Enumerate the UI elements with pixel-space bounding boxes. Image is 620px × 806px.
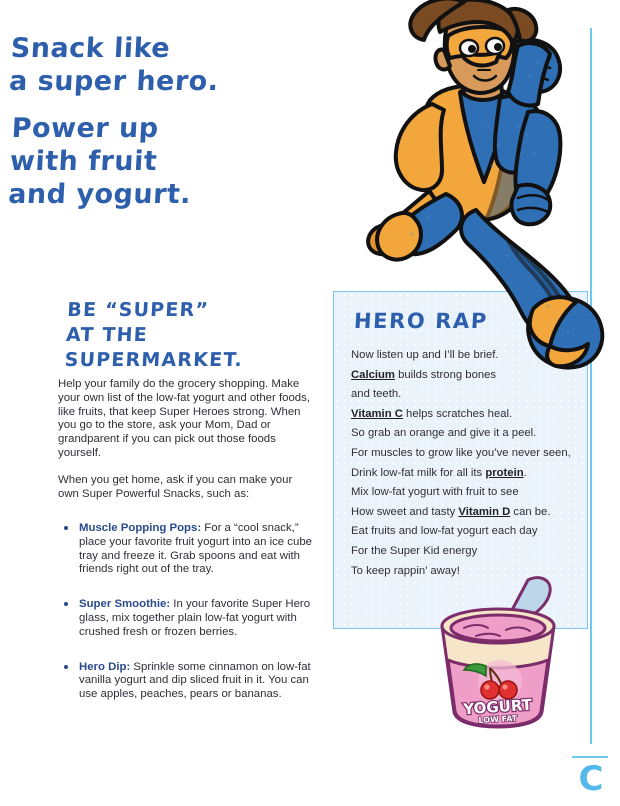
body-copy: Help your family do the grocery shopping… — [58, 378, 312, 514]
rap-nutrient-term: protein — [485, 467, 523, 479]
poster-page: C Snack like a super hero. Power up with… — [0, 0, 620, 806]
section-heading: BE “SUPER” AT THE SUPERMARKET. — [64, 298, 358, 373]
list-item-lead: Super Smoothie: — [79, 598, 170, 610]
rap-text: Drink low-fat milk for all its — [351, 467, 485, 479]
paragraph-1: Help your family do the grocery shopping… — [58, 378, 312, 461]
hero-rap-line: For muscles to grow like you’ve never se… — [351, 444, 576, 464]
rap-nutrient-term: Vitamin D — [458, 506, 510, 518]
headline-line-5: and yogurt. — [7, 178, 309, 211]
list-item-lead: Muscle Popping Pops: — [79, 522, 201, 534]
page-mark-tick — [572, 756, 608, 758]
rap-text: can be. — [510, 506, 550, 518]
section-heading-line-1: BE “SUPER” — [67, 298, 358, 323]
rap-text: For muscles to grow like you’ve never se… — [351, 447, 571, 459]
headline-line-3: Power up — [11, 112, 313, 145]
hero-rap-line: Calcium builds strong bones — [351, 366, 576, 386]
bullet-dot-icon — [64, 526, 68, 530]
list-item-lead: Hero Dip: — [79, 661, 130, 673]
rap-text: So grab an orange and give it a peel. — [351, 427, 536, 439]
rap-text: For the Super Kid energy — [351, 545, 477, 557]
hero-rap-line: Vitamin C helps scratches heal. — [351, 405, 576, 425]
rap-nutrient-term: Vitamin C — [351, 408, 403, 420]
headline-line-2: a super hero. — [8, 65, 310, 98]
headline-line-1: Snack like — [10, 32, 312, 65]
rap-text: How sweet and tasty — [351, 506, 458, 518]
rap-text: . — [524, 467, 527, 479]
section-heading-line-3: SUPERMARKET. — [64, 348, 355, 373]
headline-primary: Snack like a super hero. — [8, 32, 311, 98]
hero-rap-line: So grab an orange and give it a peel. — [351, 424, 576, 444]
list-item: Super Smoothie: In your favorite Super H… — [58, 598, 318, 639]
hero-rap-line: Drink low-fat milk for all its protein. — [351, 464, 576, 484]
rap-text: Eat fruits and low-fat yogurt each day — [351, 525, 538, 537]
rap-text: Now listen up and I’ll be brief. — [351, 349, 499, 361]
headline-line-4: with fruit — [9, 145, 311, 178]
hero-rap-line: Eat fruits and low-fat yogurt each day — [351, 522, 576, 542]
headline-secondary: Power up with fruit and yogurt. — [7, 112, 312, 211]
hero-rap-line: and teeth. — [351, 385, 576, 405]
rap-text: helps scratches heal. — [403, 408, 512, 420]
hero-rap-line: How sweet and tasty Vitamin D can be. — [351, 503, 576, 523]
bullet-dot-icon — [64, 602, 68, 606]
snack-list: Muscle Popping Pops: For a “cool snack,”… — [58, 522, 318, 723]
hero-rap-lines: Now listen up and I’ll be brief.Calcium … — [351, 346, 576, 581]
rap-nutrient-term: Calcium — [351, 369, 395, 381]
superhero-illustration — [368, 0, 613, 346]
paragraph-2: When you get home, ask if you can make y… — [58, 474, 312, 502]
section-heading-line-2: AT THE — [65, 323, 356, 348]
hero-rap-line: Mix low-fat yogurt with fruit to see — [351, 483, 576, 503]
yogurt-cup-illustration: YOGURT LOW FAT — [424, 570, 574, 730]
rap-text: Mix low-fat yogurt with fruit to see — [351, 486, 519, 498]
rap-text: and teeth. — [351, 388, 401, 400]
bullet-dot-icon — [64, 665, 68, 669]
page-mark-letter: C — [575, 762, 607, 796]
list-item: Hero Dip: Sprinkle some cinnamon on low-… — [58, 661, 318, 702]
list-item: Muscle Popping Pops: For a “cool snack,”… — [58, 522, 318, 577]
rap-text: builds strong bones — [395, 369, 496, 381]
hero-rap-line: For the Super Kid energy — [351, 542, 576, 562]
